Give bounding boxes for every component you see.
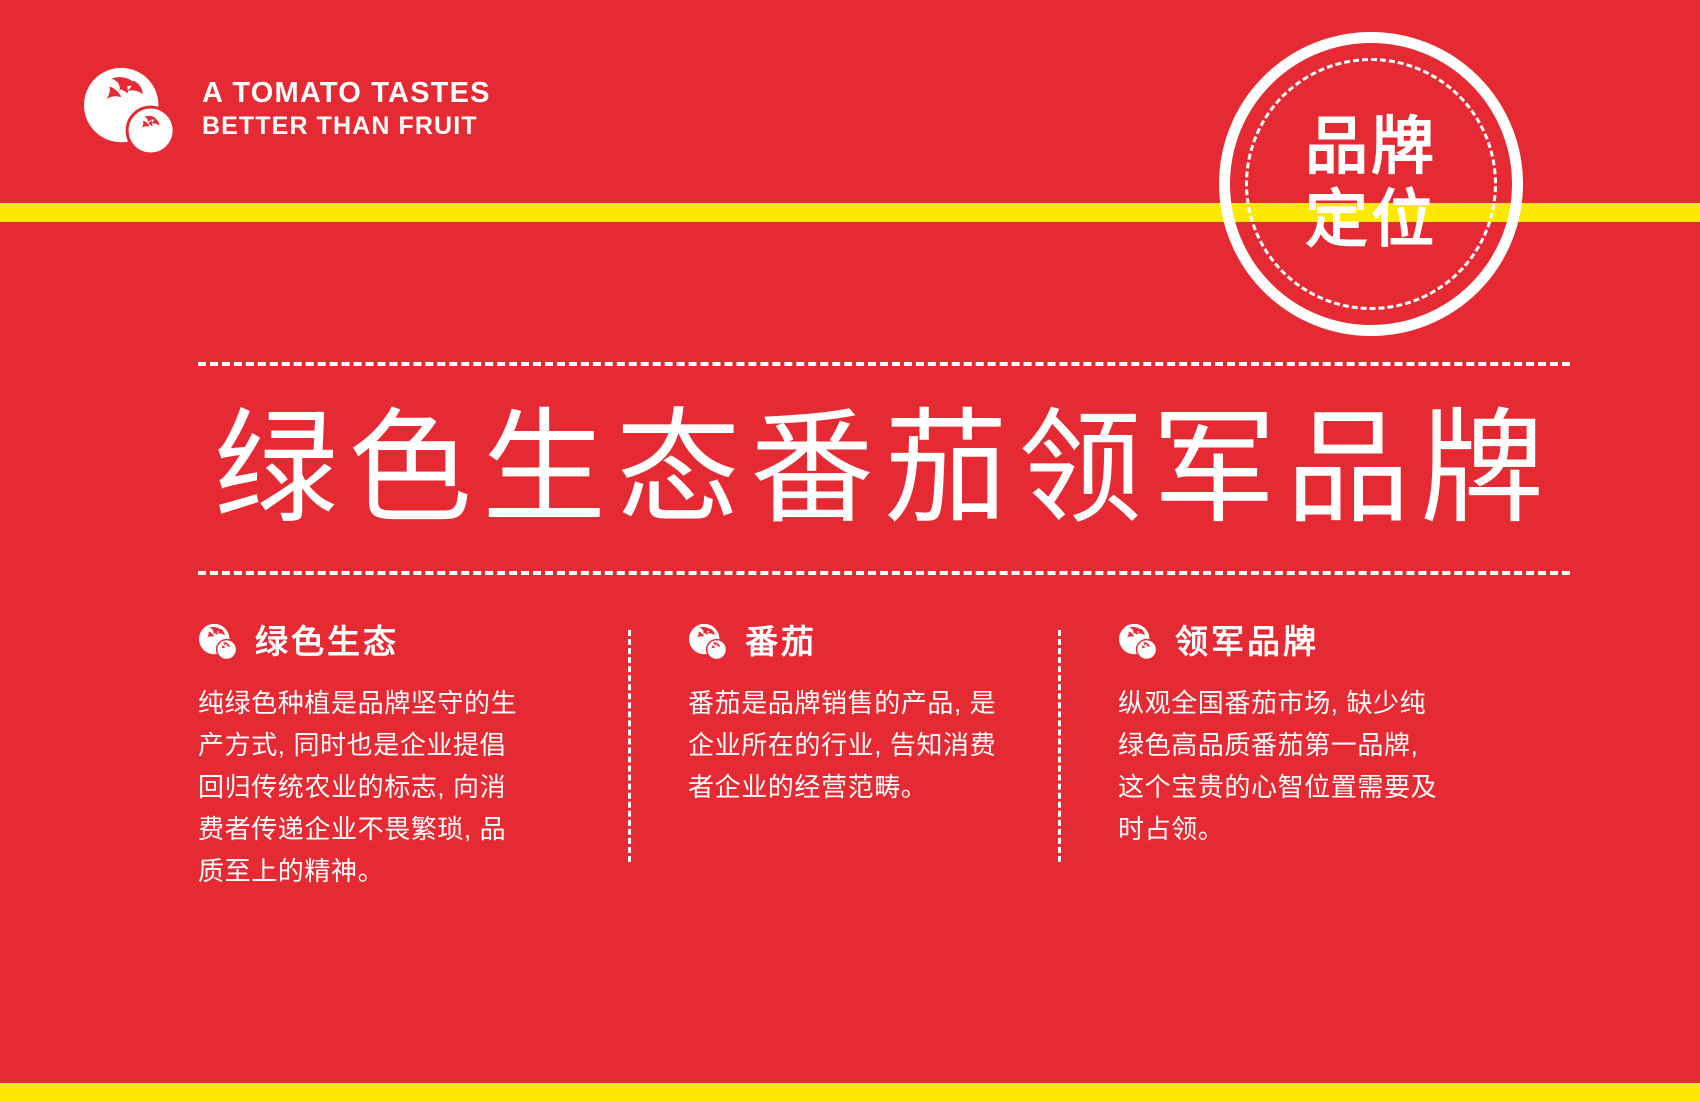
tomato-icon (1118, 622, 1160, 660)
column-divider (1058, 630, 1061, 862)
column-body: 纵观全国番茄市场, 缺少纯绿色高品质番茄第一品牌, 这个宝贵的心智位置需要及时占… (1118, 682, 1448, 850)
column-body: 纯绿色种植是品牌坚守的生产方式, 同时也是企业提倡回归传统农业的标志, 向消费者… (198, 682, 528, 893)
column-leading-brand: 领军品牌 纵观全国番茄市场, 缺少纯绿色高品质番茄第一品牌, 这个宝贵的心智位置… (1058, 622, 1488, 893)
column-header: 领军品牌 (1118, 622, 1478, 660)
brand-positioning-badge: 品牌 定位 (1219, 32, 1523, 336)
headline-rule-bottom (198, 571, 1570, 575)
tomato-logo-icon (82, 63, 180, 155)
column-header: 绿色生态 (198, 622, 618, 660)
column-title: 番茄 (745, 625, 817, 658)
logo-tagline-line-1: A TOMATO TASTES (202, 79, 491, 108)
logo-wordmark: A TOMATO TASTES BETTER THAN FRUIT (202, 79, 491, 139)
badge-label-line-2: 定位 (1305, 187, 1437, 254)
column-title: 领军品牌 (1175, 625, 1319, 658)
positioning-columns: 绿色生态 纯绿色种植是品牌坚守的生产方式, 同时也是企业提倡回归传统农业的标志,… (198, 622, 1578, 893)
tomato-icon (688, 622, 730, 660)
tomato-icon (198, 622, 240, 660)
logo-tagline-line-2: BETTER THAN FRUIT (202, 114, 491, 139)
brand-positioning-poster: A TOMATO TASTES BETTER THAN FRUIT 品牌 定位 … (0, 0, 1700, 1102)
column-green-ecology: 绿色生态 纯绿色种植是品牌坚守的生产方式, 同时也是企业提倡回归传统农业的标志,… (198, 622, 628, 893)
page-title: 绿色生态番茄领军品牌 (198, 366, 1570, 571)
column-header: 番茄 (688, 622, 1048, 660)
column-body: 番茄是品牌销售的产品, 是企业所在的行业, 告知消费者企业的经营范畴。 (688, 682, 1018, 808)
badge-label: 品牌 定位 (1219, 32, 1523, 336)
column-divider (628, 630, 631, 862)
column-title: 绿色生态 (255, 625, 399, 658)
badge-label-line-1: 品牌 (1305, 114, 1437, 181)
brand-logo-lockup: A TOMATO TASTES BETTER THAN FRUIT (82, 63, 491, 155)
bottom-yellow-band (0, 1083, 1700, 1102)
headline-block: 绿色生态番茄领军品牌 (198, 362, 1570, 575)
column-tomato: 番茄 番茄是品牌销售的产品, 是企业所在的行业, 告知消费者企业的经营范畴。 (628, 622, 1058, 893)
